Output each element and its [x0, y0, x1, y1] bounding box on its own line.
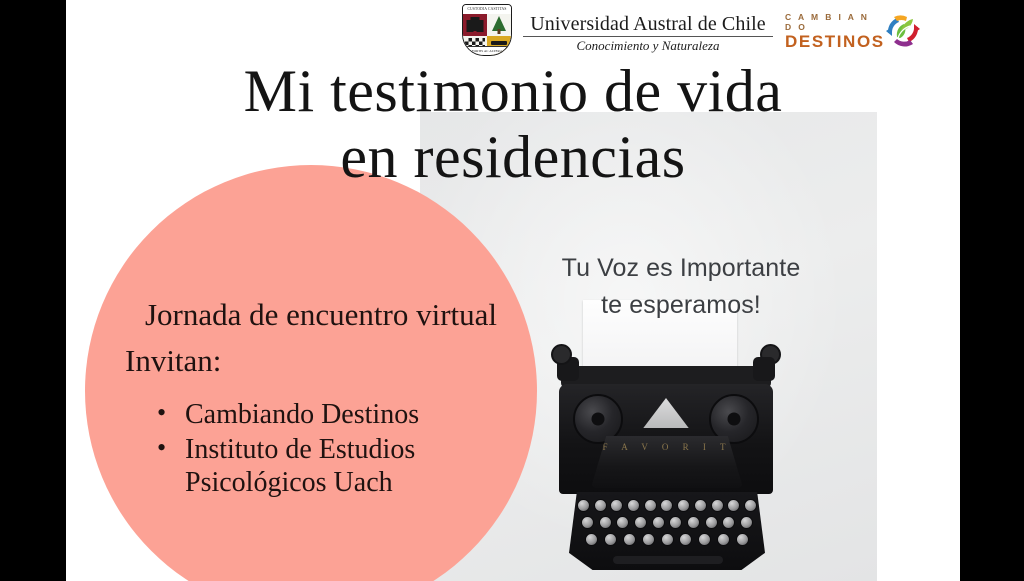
- list-item: Instituto de Estudios Psicológicos Uach: [155, 433, 521, 499]
- slide-screenshot: CUSTODIA CASTITAS FORTIS AC ALTERA: [0, 0, 1024, 581]
- typewriter-knob-right: [760, 344, 781, 365]
- cta-line1: Tu Voz es Importante: [536, 250, 826, 287]
- university-tagline: Conocimiento y Naturaleza: [523, 38, 773, 53]
- organizers-list: Cambiando Destinos Instituto de Estudios…: [121, 398, 521, 499]
- brand-header: CUSTODIA CASTITAS FORTIS AC ALTERA: [66, 0, 960, 58]
- slide-title-line1: Mi testimonio de vida: [244, 58, 783, 124]
- letterbox-bar-right: [960, 0, 1024, 581]
- typewriter-key-row: [577, 499, 757, 512]
- organizers-heading: Invitan:: [121, 342, 521, 380]
- typewriter-knob-left: [551, 344, 572, 365]
- typewriter-nameplate: F A V O R I T: [591, 436, 743, 488]
- uach-shield-icon: CUSTODIA CASTITAS FORTIS AC ALTERA: [462, 4, 512, 56]
- typewriter-key-row: [585, 533, 749, 546]
- typewriter-keyboard: [569, 492, 765, 570]
- shield-motto-bottom: FORTIS AC ALTERA: [463, 46, 511, 55]
- cd-logo-big-text: DESTINOS: [785, 32, 881, 51]
- call-to-action-text: Tu Voz es Importante te esperamos!: [536, 250, 826, 324]
- slide-title: Mi testimonio de vida en residencias: [126, 58, 900, 190]
- shield-frame: CUSTODIA CASTITAS FORTIS AC ALTERA: [462, 4, 512, 56]
- shield-tree-trunk: [498, 29, 501, 34]
- event-details-block: Jornada de encuentro virtual Invitan: Ca…: [121, 296, 521, 501]
- list-item: Cambiando Destinos: [155, 398, 521, 431]
- typewriter-typebars: [639, 398, 693, 428]
- wordmark-divider: [523, 36, 773, 37]
- university-name: Universidad Austral de Chile: [523, 13, 773, 35]
- typewriter-key-row: [581, 516, 753, 529]
- typewriter-space-bar: [613, 556, 723, 564]
- typewriter-illustration: F A V O R I T: [555, 300, 791, 581]
- letterbox-bar-left: [0, 0, 66, 581]
- cd-logo-small-text: C A M B I A N D O: [785, 12, 881, 32]
- shield-quarter-tree: [487, 14, 511, 36]
- cambiando-destinos-logo: C A M B I A N D O DESTINOS: [785, 10, 923, 52]
- shield-quarter-tower: [463, 14, 487, 36]
- cd-logo-text: C A M B I A N D O DESTINOS: [785, 12, 881, 51]
- typewriter-brand-text: F A V O R I T: [591, 442, 743, 452]
- slide-canvas: CUSTODIA CASTITAS FORTIS AC ALTERA: [66, 0, 960, 581]
- typewriter-body: F A V O R I T: [559, 384, 773, 494]
- slide-title-line2: en residencias: [126, 124, 900, 190]
- shield-tower-glyph: [471, 17, 480, 31]
- cta-line2: te esperamos!: [536, 287, 826, 324]
- university-wordmark: Universidad Austral de Chile Conocimient…: [523, 13, 773, 53]
- event-type-label: Jornada de encuentro virtual: [129, 296, 513, 334]
- cambiando-destinos-hand-leaf-icon: [883, 11, 923, 49]
